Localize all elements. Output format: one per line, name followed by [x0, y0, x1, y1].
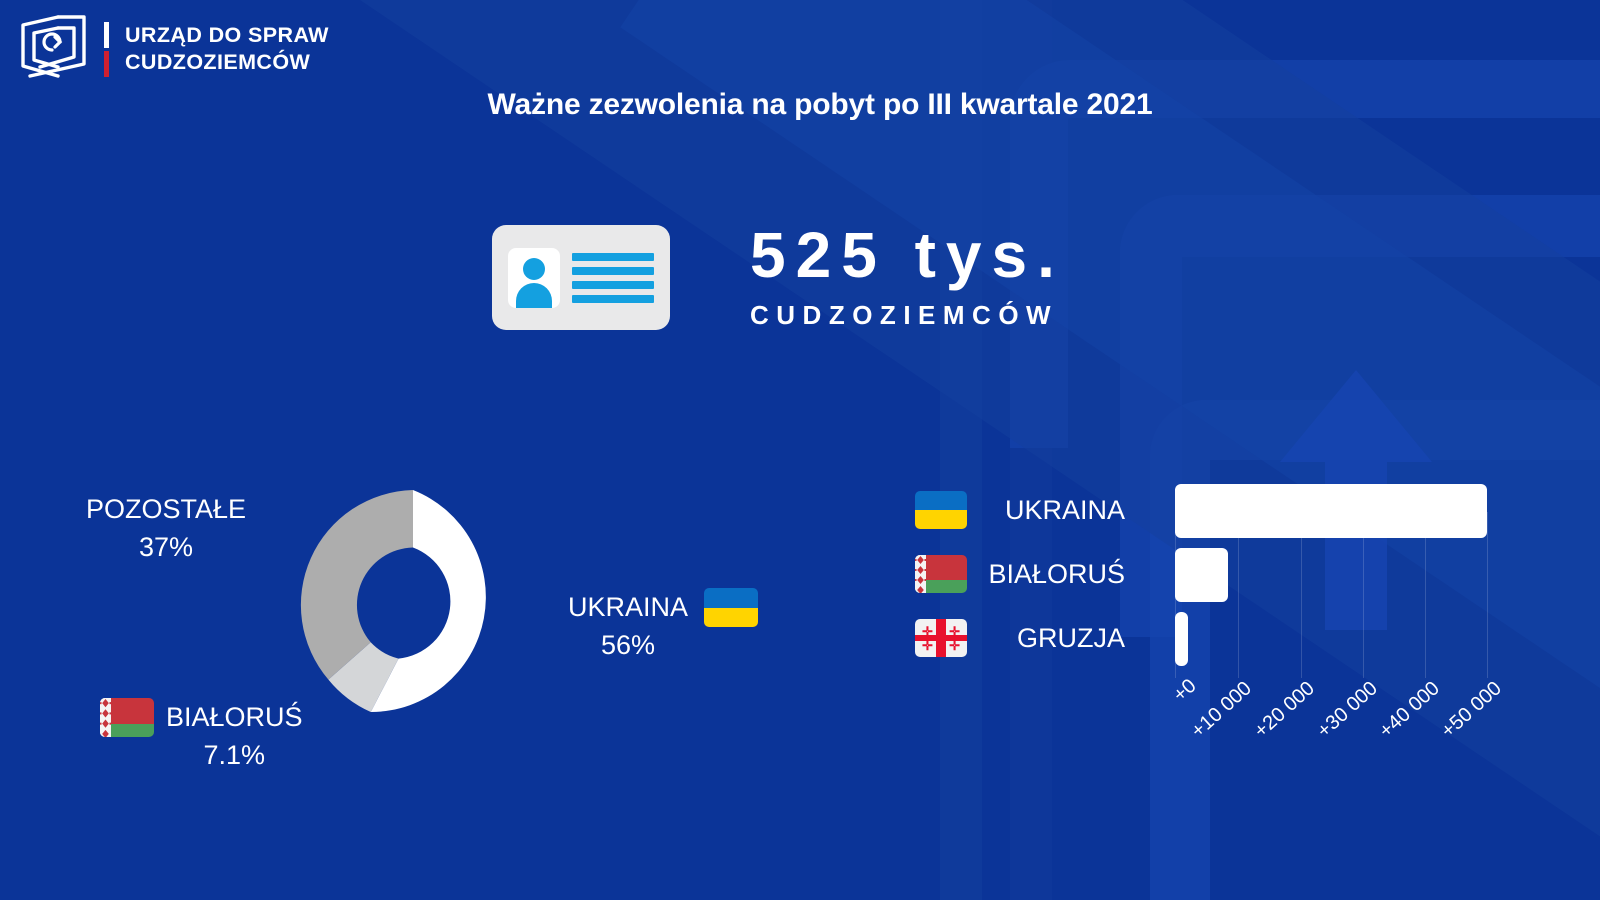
- logo-line-1: URZĄD DO SPRAW: [125, 24, 329, 47]
- bar-chart-rows: UKRAINA: [915, 478, 1147, 670]
- infographic-canvas: URZĄD DO SPRAW CUDZOZIEMCÓW Ważne zezwol…: [0, 0, 1600, 900]
- agency-logo: URZĄD DO SPRAW CUDZOZIEMCÓW: [14, 12, 329, 86]
- bar-georgia: [1175, 612, 1188, 666]
- logo-mark-icon: [14, 12, 94, 86]
- id-card-photo: [508, 248, 560, 308]
- bar-row-flag: [915, 555, 979, 593]
- logo-color-bars: [104, 20, 109, 78]
- flag-belarus-ornament: [100, 698, 111, 737]
- logo-line-2: CUDZOZIEMCÓW: [125, 51, 329, 74]
- hero-caption: CUDZOZIEMCÓW: [750, 300, 1065, 331]
- donut-slice-other: [301, 490, 413, 680]
- bar-label-belarus: BIAŁORUŚ: [979, 559, 1147, 590]
- bar-chart: UKRAINA: [915, 478, 1515, 778]
- donut-chart: [298, 490, 528, 720]
- donut-label-ukraine-name: UKRAINA: [568, 588, 688, 626]
- bar-label-ukraine: UKRAINA: [979, 495, 1147, 526]
- flag-ukraine-icon: [915, 491, 967, 529]
- bar-label-georgia: GRUZJA: [979, 623, 1147, 654]
- bar-row-belarus: BIAŁORUŚ: [915, 542, 1147, 606]
- logo-text: URZĄD DO SPRAW CUDZOZIEMCÓW: [125, 24, 329, 73]
- axis-tick-0: +0: [1169, 675, 1201, 707]
- hero-number: 525 tys.: [750, 225, 1065, 286]
- id-card-lines: [572, 253, 654, 303]
- bar-row-ukraine: UKRAINA: [915, 478, 1147, 542]
- bar-row-georgia: ✛ ✛ ✛ ✛ GRUZJA: [915, 606, 1147, 670]
- flag-georgia-icon: ✛ ✛ ✛ ✛: [915, 619, 967, 657]
- axis-tick-4: +40 000: [1375, 677, 1445, 743]
- axis-tick-3: +30 000: [1313, 677, 1383, 743]
- bar-belarus: [1175, 548, 1228, 602]
- donut-label-ukraine: UKRAINA 56%: [568, 588, 758, 665]
- bar-row-flag: [915, 491, 979, 529]
- bar-ukraine: [1175, 484, 1487, 538]
- axis-tick-2: +20 000: [1250, 677, 1320, 743]
- donut-label-belarus-value: 7.1%: [166, 736, 303, 774]
- flag-belarus-icon: [100, 698, 154, 737]
- donut-label-other: POZOSTAŁE 37%: [86, 490, 246, 567]
- donut-chart-svg: [298, 490, 528, 720]
- donut-label-other-value: 37%: [86, 528, 246, 566]
- donut-label-belarus-name: BIAŁORUŚ: [166, 698, 303, 736]
- bar-row-flag: ✛ ✛ ✛ ✛: [915, 619, 979, 657]
- hero-block: 525 tys. CUDZOZIEMCÓW: [492, 225, 1065, 331]
- bar-chart-axis: +0 +10 000 +20 000 +30 000 +40 000 +50 0…: [1147, 686, 1517, 776]
- page-title: Ważne zezwolenia na pobyt po III kwartal…: [0, 88, 1600, 122]
- axis-tick-5: +50 000: [1437, 677, 1507, 743]
- flag-belarus-icon: [915, 555, 967, 593]
- donut-label-other-name: POZOSTAŁE: [86, 490, 246, 528]
- bar-chart-bars: [1175, 478, 1495, 678]
- donut-label-belarus: BIAŁORUŚ 7.1%: [100, 698, 303, 775]
- id-card-icon: [492, 225, 670, 330]
- donut-label-ukraine-value: 56%: [568, 626, 688, 664]
- flag-ukraine-icon: [704, 588, 758, 627]
- hero-text: 525 tys. CUDZOZIEMCÓW: [750, 225, 1065, 331]
